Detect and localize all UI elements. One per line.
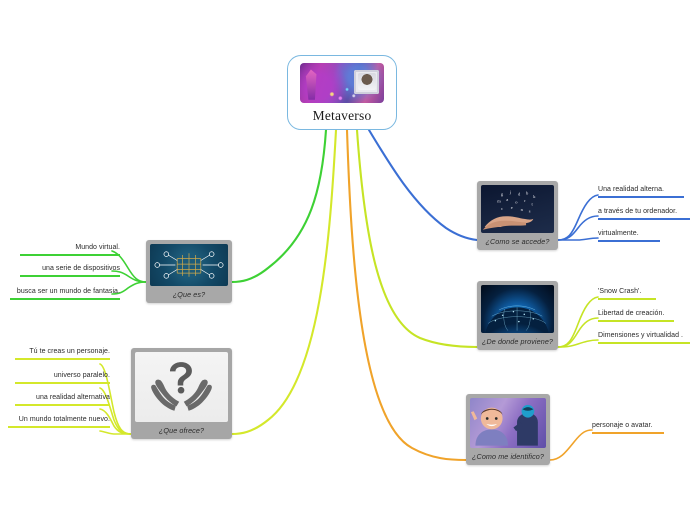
svg-text:r: r: [524, 198, 526, 203]
node-de-donde-proviene[interactable]: ¿De donde proviene?: [477, 281, 558, 350]
svg-text:n: n: [521, 207, 524, 212]
svg-text:t: t: [531, 201, 533, 206]
svg-text:o: o: [515, 200, 518, 205]
svg-text:e: e: [511, 205, 513, 210]
svg-text:d: d: [518, 191, 521, 196]
hand-with-letters-icon: gjd bk mao rt cen s: [481, 185, 554, 233]
leaf-que-es-1[interactable]: Mundo virtual.: [20, 244, 120, 256]
leaf-que-ofrece-1[interactable]: Tú te creas un personaje.: [15, 348, 110, 360]
node-caption: ¿De donde proviene?: [481, 333, 554, 350]
node-como-me-identifico[interactable]: ¿Como me identifico?: [466, 394, 550, 465]
leaf-que-es-3[interactable]: busca ser un mundo de fantasia.: [10, 288, 120, 300]
leaf-que-ofrece-2[interactable]: universo paralelo.: [15, 372, 110, 384]
svg-text:j: j: [509, 190, 511, 195]
node-que-es[interactable]: ¿Que es?: [146, 240, 232, 303]
root-node[interactable]: Metaverso: [287, 55, 397, 130]
leaf-que-es-2[interactable]: una serie de dispositivos: [20, 265, 120, 277]
svg-text:g: g: [501, 191, 504, 196]
mindmap-canvas: Metaverso ¿Que es?: [0, 0, 696, 520]
svg-text:k: k: [533, 194, 536, 199]
leaf-de-donde-proviene-1[interactable]: 'Snow Crash'.: [598, 288, 656, 300]
node-como-se-accede[interactable]: gjd bk mao rt cen s ¿Como se accede?: [477, 181, 558, 250]
leaf-que-ofrece-4[interactable]: Un mundo totalmente nuevo.: [8, 416, 110, 428]
leaf-de-donde-proviene-3[interactable]: Dimensiones y virtualidad .: [598, 332, 690, 344]
node-caption: ¿Que ofrece?: [135, 422, 228, 439]
node-caption: ¿Que es?: [150, 286, 228, 303]
svg-text:b: b: [526, 191, 529, 196]
node-que-ofrece[interactable]: ¿Que ofrece?: [131, 348, 232, 439]
leaf-que-ofrece-3[interactable]: una realidad alternativa: [15, 394, 110, 406]
node-caption: ¿Como me identifico?: [470, 448, 546, 465]
circuit-brain-icon: [150, 244, 228, 286]
hands-question-mark-icon: [135, 352, 228, 422]
leaf-de-donde-proviene-2[interactable]: Libertad de creación.: [598, 310, 674, 322]
leaf-como-se-accede-3[interactable]: virtualmente.: [598, 230, 660, 242]
svg-text:a: a: [506, 197, 508, 202]
leaf-como-me-identifico-1[interactable]: personaje o avatar.: [592, 422, 664, 434]
svg-text:m: m: [497, 199, 501, 204]
node-caption: ¿Como se accede?: [481, 233, 554, 250]
root-title: Metaverso: [313, 108, 372, 124]
avatar-person-icon: [470, 398, 546, 448]
leaf-como-se-accede-1[interactable]: Una realidad alterna.: [598, 186, 684, 198]
svg-text:c: c: [501, 206, 503, 211]
leaf-como-se-accede-2[interactable]: a través de tu ordenador.: [598, 208, 690, 220]
svg-text:s: s: [529, 209, 531, 214]
metaverse-city-photo: [300, 63, 384, 103]
blue-globe-network-icon: [481, 285, 554, 333]
